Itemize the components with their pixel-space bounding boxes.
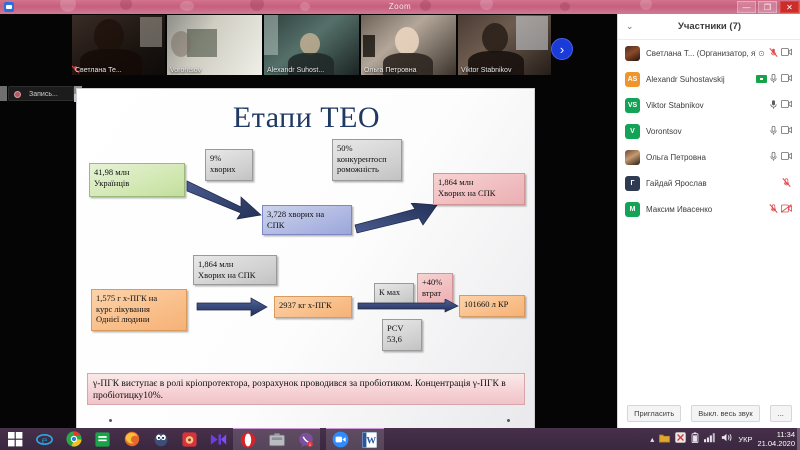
windows-taskbar: e 1 W ▴ <box>0 428 800 450</box>
folder-icon[interactable] <box>659 430 670 448</box>
participant-row[interactable]: М Максим Ивасенко <box>618 196 800 222</box>
toolbar-drag-handle[interactable] <box>0 86 7 101</box>
internet-explorer-icon[interactable]: e <box>30 428 59 450</box>
avatar: М <box>625 202 640 217</box>
media-player-icon[interactable] <box>204 428 233 450</box>
person-silhouette <box>482 23 508 53</box>
video-icon[interactable] <box>780 100 793 110</box>
participants-title: Участники (7) <box>618 14 800 40</box>
slide-box-fifty-percent: 50%конкурентоспроможність <box>332 139 402 181</box>
participant-row[interactable]: VS Viktor Stabnikov <box>618 92 800 118</box>
windows-start-icon[interactable] <box>0 428 30 450</box>
arrow-down-right <box>185 179 265 221</box>
clock-date: 21.04.2020 <box>757 439 795 448</box>
mute-all-button[interactable]: Выкл. весь звук <box>691 405 759 422</box>
opera-icon[interactable] <box>233 428 262 450</box>
shared-slide[interactable]: Етапи ТЕО 41,98 млнУкраїнців 9%хворих 3,… <box>76 88 535 432</box>
antivirus-icon[interactable] <box>675 430 686 448</box>
slide-box-nine-percent: 9%хворих <box>205 149 253 181</box>
participant-name: Максим Ивасенко <box>646 205 767 214</box>
slide-box-million-sick-2: 1,864 млнХворих на СПК <box>193 255 277 285</box>
minimize-button[interactable]: — <box>737 1 756 13</box>
svg-text:e: e <box>42 432 48 446</box>
window-title: Zoom <box>0 0 800 14</box>
svg-text:W: W <box>366 435 376 446</box>
window-titlebar[interactable]: Zoom — ❐ ✕ <box>0 0 800 14</box>
video-tile-name: Светлана Те... <box>75 67 122 74</box>
close-button[interactable]: ✕ <box>780 1 799 13</box>
gimp-icon[interactable] <box>146 428 175 450</box>
arrow-right-1 <box>195 297 271 317</box>
video-filmstrip[interactable]: Светлана Те... Vorontsov Alexandr Suhost… <box>72 15 547 75</box>
participant-row[interactable]: AS Alexandr Suhostavskij <box>618 66 800 92</box>
archive-icon[interactable] <box>262 428 291 450</box>
word-icon[interactable]: W <box>355 428 384 450</box>
participant-name: Гайдай Ярослав <box>646 179 780 188</box>
invite-button[interactable]: Пригласить <box>627 405 681 422</box>
background-window <box>516 16 548 50</box>
avatar: V <box>625 124 640 139</box>
video-tile-name: Viktor Stabnikov <box>461 67 511 74</box>
mic-icon[interactable] <box>767 99 780 112</box>
slide-box-ukrainians: 41,98 млнУкраїнців <box>89 163 185 197</box>
avatar <box>625 150 640 165</box>
video-icon[interactable] <box>780 126 793 136</box>
background-window <box>264 15 278 55</box>
slide-box-million-sick: 1,864 млнХворих на СПК <box>433 173 525 205</box>
slide-box-sick-spk: 3,728 хворих наСПК <box>262 205 352 235</box>
more-options-button[interactable]: ... <box>770 405 792 422</box>
meeting-stage: Светлана Те... Vorontsov Alexandr Suhost… <box>0 14 617 428</box>
tray-expand-arrow-icon[interactable]: ▴ <box>650 435 654 444</box>
clock[interactable]: 11:34 21.04.2020 <box>757 430 795 448</box>
arrow-right-2 <box>357 299 461 313</box>
video-tile-name: Alexandr Suhost... <box>267 67 324 74</box>
slide-box-kg-total: 2937 кг х-ПГК <box>274 296 352 318</box>
video-icon[interactable] <box>780 74 793 84</box>
person-silhouette <box>395 27 419 55</box>
video-icon[interactable] <box>780 152 793 162</box>
person-silhouette <box>94 19 124 53</box>
video-tile[interactable]: Светлана Те... <box>72 15 165 75</box>
participant-row[interactable]: Ольга Петровна <box>618 144 800 170</box>
clock-time: 11:34 <box>757 430 795 439</box>
slide-box-final: 101660 л КР <box>459 295 525 317</box>
slide-placeholder-dot <box>507 419 510 422</box>
battery-icon[interactable] <box>691 430 699 448</box>
background-window <box>363 35 375 57</box>
host-mark-icon: ⊙ <box>756 49 767 58</box>
microsoft-store-icon[interactable] <box>88 428 117 450</box>
chevron-right-icon[interactable]: › <box>551 38 573 60</box>
mic-muted-icon[interactable] <box>767 203 780 216</box>
maximize-button[interactable]: ❐ <box>758 1 777 13</box>
video-tile[interactable]: Vorontsov <box>167 15 262 75</box>
participant-name: Viktor Stabnikov <box>646 101 767 110</box>
video-tile[interactable]: Alexandr Suhost... <box>264 15 359 75</box>
mic-muted-icon[interactable] <box>780 177 793 190</box>
video-tile[interactable]: Viktor Stabnikov <box>458 15 551 75</box>
mic-icon[interactable] <box>767 125 780 138</box>
arrow-up-right <box>353 203 443 237</box>
slide-placeholder-dot <box>109 419 112 422</box>
avatar: VS <box>625 98 640 113</box>
system-tray: ▴ УКР 11:34 21.04.2020 <box>650 428 798 450</box>
participant-row[interactable]: V Vorontsov <box>618 118 800 144</box>
volume-icon[interactable] <box>721 430 733 448</box>
video-tile-name: Ольга Петровна <box>364 67 417 74</box>
slide-note-text: γ-ПГК виступає в ролі кріопротектора, ро… <box>87 373 525 405</box>
participant-name: Ольга Петровна <box>646 153 767 162</box>
record-dot-icon <box>14 91 21 98</box>
video-tile-name: Vorontsov <box>170 67 201 74</box>
avatar <box>625 46 640 61</box>
network-icon[interactable] <box>704 430 716 448</box>
mic-muted-icon[interactable] <box>767 47 780 60</box>
zoom-icon[interactable] <box>326 428 355 450</box>
participant-name: Светлана Т... (Организатор, я) <box>646 49 756 58</box>
video-icon[interactable] <box>780 48 793 58</box>
video-tile[interactable]: Ольга Петровна <box>361 15 456 75</box>
person-silhouette <box>300 33 320 55</box>
mic-icon[interactable] <box>767 151 780 164</box>
avatar: AS <box>625 72 640 87</box>
google-chrome-icon[interactable] <box>59 428 88 450</box>
slide-box-pcv: PCV53,6 <box>382 319 422 351</box>
background-window <box>140 17 162 47</box>
participant-row[interactable]: Г Гайдай Ярослав <box>618 170 800 196</box>
recording-label: Запись... <box>29 88 58 101</box>
language-indicator[interactable]: УКР <box>738 435 752 444</box>
slide-box-dose: 1,575 г х-ПГК накурс лікуванняОднієї люд… <box>91 289 187 331</box>
firefox-icon[interactable] <box>117 428 146 450</box>
participants-header: ⌄ Участники (7) <box>618 14 800 40</box>
viber-icon[interactable]: 1 <box>291 428 320 450</box>
video-muted-icon[interactable] <box>780 204 793 215</box>
participant-name: Vorontsov <box>646 127 767 136</box>
participant-name: Alexandr Suhostavskij <box>646 75 756 84</box>
participant-row[interactable]: Светлана Т... (Организатор, я) ⊙ <box>618 40 800 66</box>
clementine-icon[interactable] <box>175 428 204 450</box>
participants-panel: ⌄ Участники (7) Светлана Т... (Организат… <box>617 14 800 428</box>
avatar: Г <box>625 176 640 191</box>
recording-indicator[interactable]: Запись... <box>8 86 74 101</box>
screen-share-badge-icon <box>756 75 767 83</box>
mic-icon[interactable] <box>767 73 780 86</box>
participants-footer: Пригласить Выкл. весь звук ... <box>618 398 800 428</box>
background-window <box>187 29 217 57</box>
slide-title: Етапи ТЕО <box>77 101 535 135</box>
person-silhouette <box>171 31 191 57</box>
